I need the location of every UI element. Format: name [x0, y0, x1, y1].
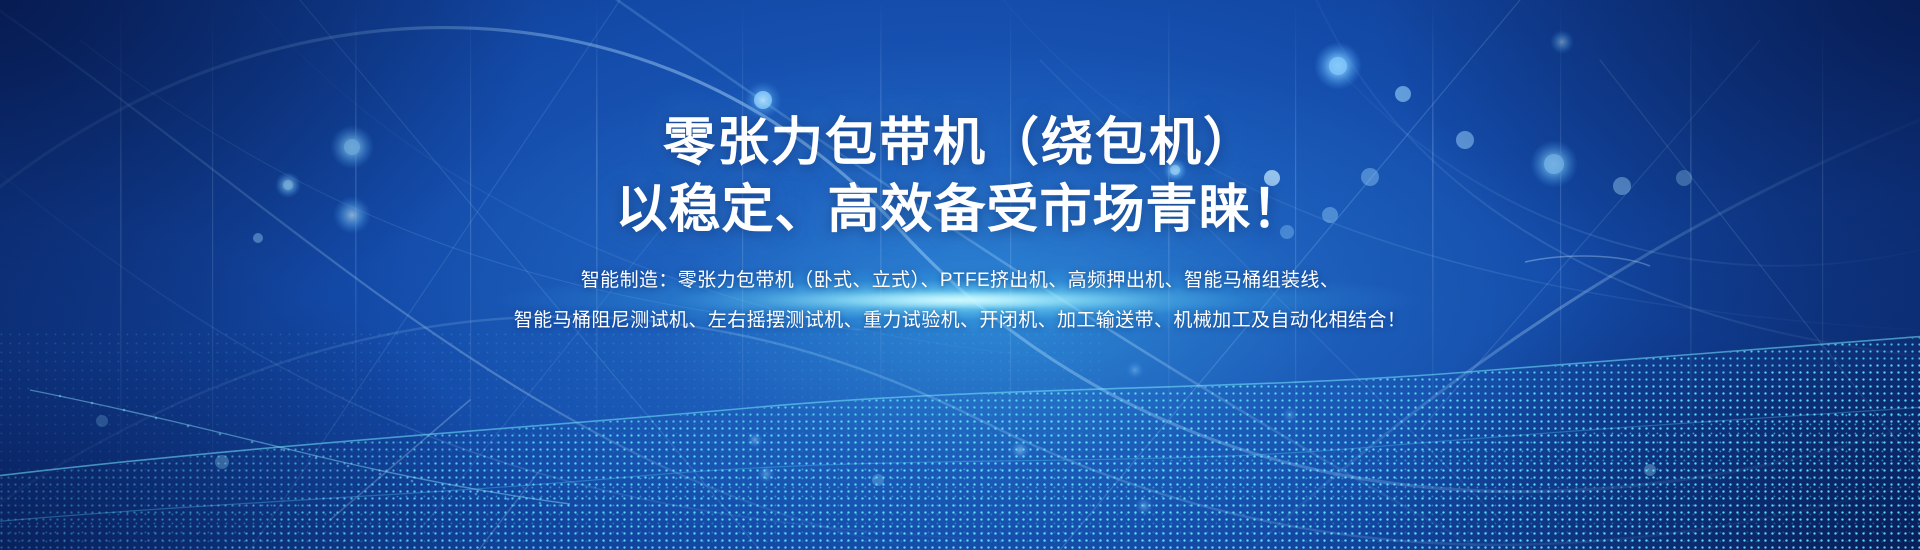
banner-subtitle-line2: 智能马桶阻尼测试机、左右摇摆测试机、重力试验机、开闭机、加工输送带、机械加工及自… [0, 301, 1920, 341]
hero-banner: 零张力包带机（绕包机） 以稳定、高效备受市场青睐！ 智能制造：零张力包带机（卧式… [0, 0, 1920, 550]
helix-dots [59, 395, 542, 505]
banner-subtitle-line1: 智能制造：零张力包带机（卧式、立式）、PTFE挤出机、高频押出机、智能马桶组装线… [0, 261, 1920, 301]
banner-title-line1: 零张力包带机（绕包机） [663, 114, 1257, 172]
banner-content: 零张力包带机（绕包机） 以稳定、高效备受市场青睐！ 智能制造：零张力包带机（卧式… [0, 0, 1920, 342]
banner-subtitle: 智能制造：零张力包带机（卧式、立式）、PTFE挤出机、高频押出机、智能马桶组装线… [0, 243, 1920, 342]
banner-title-line2: 以稳定、高效备受市场青睐！ [0, 177, 1920, 244]
banner-title: 零张力包带机（绕包机） 以稳定、高效备受市场青睐！ [0, 0, 1920, 243]
